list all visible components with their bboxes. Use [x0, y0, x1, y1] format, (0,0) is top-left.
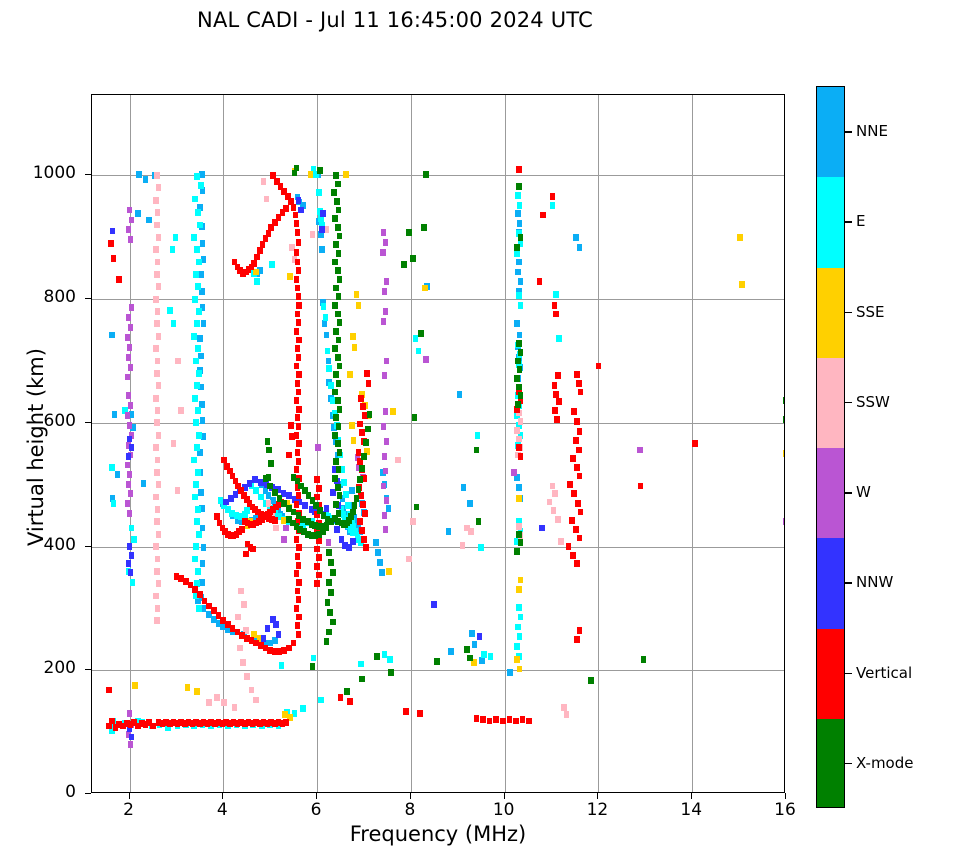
- scatter-point-vertical: [314, 563, 320, 570]
- scatter-point-ssw: [558, 538, 564, 545]
- scatter-point-ssw: [514, 427, 520, 434]
- scatter-point-x-mode: [467, 655, 473, 662]
- scatter-point-vertical: [250, 546, 256, 553]
- scatter-point-e: [196, 370, 202, 377]
- scatter-point-vertical: [537, 278, 543, 285]
- scatter-point-sse: [390, 408, 396, 415]
- scatter-point-nne: [141, 480, 147, 487]
- scatter-point-x-mode: [410, 255, 416, 262]
- scatter-point-ssw: [273, 525, 279, 532]
- scatter-point-vertical: [295, 311, 301, 318]
- scatter-point-x-mode: [336, 293, 342, 300]
- scatter-point-x-mode: [328, 589, 334, 596]
- scatter-point-ssw: [155, 457, 161, 464]
- scatter-point-x-mode: [401, 261, 407, 268]
- x-tick-label: 8: [380, 800, 440, 820]
- scatter-point-e: [300, 705, 306, 712]
- y-tick-label: 200: [16, 658, 76, 678]
- scatter-point-e: [196, 308, 202, 315]
- scatter-point-e: [193, 481, 199, 488]
- scatter-point-x-mode: [359, 465, 365, 472]
- scatter-point-x-mode: [268, 460, 274, 467]
- scatter-point-vertical: [295, 622, 301, 629]
- scatter-point-e: [518, 614, 524, 621]
- x-tick: [504, 793, 505, 799]
- scatter-point-ssw: [156, 580, 162, 587]
- scatter-point-e: [109, 464, 115, 471]
- scatter-point-ssw: [406, 556, 412, 563]
- scatter-point-vertical: [507, 716, 513, 723]
- scatter-point-ssw: [156, 283, 162, 290]
- scatter-point-vertical: [202, 598, 208, 605]
- scatter-point-x-mode: [515, 401, 521, 408]
- scatter-point-ssw: [214, 694, 220, 701]
- scatter-point-e: [326, 365, 332, 372]
- y-axis-label: Virtual height (km): [24, 297, 48, 597]
- scatter-point-ssw: [518, 418, 524, 425]
- scatter-point-vertical: [571, 408, 577, 415]
- scatter-point-ssw: [244, 673, 250, 680]
- scatter-point-sse: [349, 422, 355, 429]
- scatter-point-nnw: [296, 197, 302, 204]
- y-tick: [85, 546, 91, 547]
- scatter-point-ssw: [550, 483, 556, 490]
- scatter-point-vertical: [554, 416, 560, 423]
- scatter-point-sse: [287, 273, 293, 280]
- scatter-point-vertical: [357, 518, 363, 525]
- scatter-point-sse: [343, 171, 349, 178]
- scatter-point-e: [195, 469, 201, 476]
- scatter-point-vertical: [574, 371, 580, 378]
- scatter-point-x-mode: [336, 250, 342, 257]
- scatter-point-nnw: [127, 436, 133, 443]
- scatter-point-x-mode: [356, 486, 362, 493]
- scatter-point-nne: [467, 500, 473, 507]
- scatter-point-vertical: [552, 302, 558, 309]
- scatter-point-e: [517, 633, 523, 640]
- scatter-point-w: [129, 217, 135, 224]
- y-tick-label: 1000: [16, 163, 76, 183]
- scatter-point-x-mode: [277, 495, 283, 502]
- colorbar-label-nnw: NNW: [856, 573, 893, 591]
- scatter-point-e: [192, 494, 198, 501]
- scatter-point-vertical: [347, 698, 353, 705]
- scatter-point-vertical: [296, 337, 302, 344]
- scatter-point-nne: [479, 657, 485, 664]
- scatter-point-ssw: [155, 407, 161, 414]
- scatter-point-w: [511, 469, 517, 476]
- scatter-point-w: [127, 207, 133, 214]
- scatter-point-x-mode: [335, 181, 341, 188]
- scatter-point-e: [279, 662, 285, 669]
- scatter-point-w: [382, 372, 388, 379]
- scatter-point-vertical: [294, 328, 300, 335]
- scatter-point-ssw: [154, 222, 160, 229]
- scatter-point-ssw: [253, 697, 259, 704]
- scatter-point-nne: [515, 210, 521, 217]
- scatter-point-x-mode: [474, 447, 480, 454]
- scatter-point-vertical: [576, 447, 582, 454]
- scatter-point-vertical: [294, 466, 300, 473]
- scatter-point-vertical: [553, 391, 559, 398]
- scatter-point-e: [170, 246, 176, 253]
- scatter-point-x-mode: [418, 330, 424, 337]
- scatter-point-sse: [347, 371, 353, 378]
- scatter-point-x-mode: [317, 167, 323, 174]
- scatter-point-vertical: [296, 423, 302, 430]
- scatter-point-e: [515, 192, 521, 199]
- colorbar-label-ssw: SSW: [856, 393, 890, 411]
- scatter-point-ssw: [241, 601, 247, 608]
- scatter-point-sse: [352, 344, 358, 351]
- scatter-point-sse: [354, 291, 360, 298]
- scatter-point-vertical: [316, 572, 322, 579]
- scatter-point-vertical: [577, 535, 583, 542]
- scatter-point-vertical: [295, 414, 301, 421]
- scatter-point-vertical: [364, 370, 370, 377]
- scatter-point-w: [380, 249, 386, 256]
- scatter-point-nne: [200, 417, 206, 424]
- scatter-point-nne: [324, 332, 330, 339]
- scatter-point-sse: [739, 281, 745, 288]
- scatter-point-ssw: [240, 659, 246, 666]
- scatter-point-w: [383, 239, 389, 246]
- scatter-point-vertical: [295, 553, 301, 560]
- scatter-point-x-mode: [333, 328, 339, 335]
- scatter-point-x-mode: [421, 224, 427, 231]
- scatter-point-vertical: [296, 319, 302, 326]
- scatter-point-e: [516, 604, 522, 611]
- scatter-point-nnw: [223, 499, 229, 506]
- scatter-point-vertical: [500, 718, 506, 725]
- scatter-point-x-mode: [518, 349, 524, 356]
- scatter-point-ssw: [155, 506, 161, 513]
- scatter-point-x-mode: [294, 165, 300, 172]
- scatter-point-e: [196, 432, 202, 439]
- scatter-point-x-mode: [325, 599, 331, 606]
- scatter-point-ssw: [310, 231, 316, 238]
- scatter-point-e: [195, 283, 201, 290]
- scatter-point-x-mode: [783, 416, 785, 423]
- scatter-point-vertical: [294, 570, 300, 577]
- scatter-point-vertical: [338, 694, 344, 701]
- scatter-point-w: [125, 412, 131, 419]
- scatter-point-e: [358, 661, 364, 668]
- scatter-point-x-mode: [332, 475, 338, 482]
- scatter-point-ssw: [155, 358, 161, 365]
- scatter-point-w: [125, 334, 131, 341]
- scatter-point-vertical: [296, 631, 302, 638]
- scatter-point-ssw: [153, 395, 159, 402]
- scatter-point-vertical: [288, 422, 294, 429]
- scatter-point-w: [128, 490, 134, 497]
- scatter-point-x-mode: [361, 453, 367, 460]
- scatter-point-x-mode: [352, 502, 358, 509]
- colorbar-tick: [845, 312, 852, 313]
- scatter-point-w: [128, 741, 134, 748]
- y-tick-label: 0: [16, 782, 76, 802]
- scatter-point-e: [196, 605, 202, 612]
- scatter-point-vertical: [550, 193, 556, 200]
- scatter-point-w: [283, 525, 289, 532]
- scatter-point-e: [311, 655, 317, 662]
- y-tick: [85, 174, 91, 175]
- scatter-point-vertical: [567, 481, 573, 488]
- scatter-point-vertical: [289, 433, 295, 440]
- scatter-point-x-mode: [335, 397, 341, 404]
- x-tick-label: 6: [286, 800, 346, 820]
- scatter-point-vertical: [296, 267, 302, 274]
- scatter-point-x-mode: [326, 629, 332, 636]
- scatter-point-nnw: [302, 502, 308, 509]
- scatter-point-e: [553, 291, 559, 298]
- scatter-point-ssw: [155, 605, 161, 612]
- scatter-point-w: [126, 354, 132, 361]
- scatter-point-vertical: [295, 229, 301, 236]
- colorbar-label-x-mode: X-mode: [856, 754, 913, 772]
- scatter-point-vertical: [552, 407, 558, 414]
- scatter-point-x-mode: [337, 319, 343, 326]
- scatter-point-ssw: [156, 234, 162, 241]
- scatter-point-x-mode: [327, 609, 333, 616]
- scatter-point-ssw: [206, 699, 212, 706]
- scatter-point-w: [382, 288, 388, 295]
- colorbar-segment-x-mode: [817, 719, 844, 808]
- scatter-point-w: [127, 510, 133, 517]
- ionogram-figure: NAL CADI - Jul 11 16:45:00 2024 UTC 2468…: [0, 0, 958, 857]
- scatter-point-x-mode: [326, 579, 332, 586]
- scatter-point-ssw: [410, 518, 416, 525]
- scatter-point-x-mode: [344, 688, 350, 695]
- scatter-point-vertical: [296, 544, 302, 551]
- scatter-point-nne: [109, 332, 115, 339]
- y-tick: [85, 793, 91, 794]
- scatter-point-w: [128, 364, 134, 371]
- scatter-point-w: [384, 358, 390, 365]
- scatter-point-nnw: [252, 476, 258, 483]
- scatter-point-e: [192, 296, 198, 303]
- scatter-point-nnw: [110, 228, 116, 235]
- scatter-point-nne: [446, 528, 452, 535]
- scatter-point-x-mode: [365, 426, 371, 433]
- scatter-point-x-mode: [336, 423, 342, 430]
- scatter-point-nne: [507, 669, 513, 676]
- scatter-point-vertical: [362, 510, 368, 517]
- scatter-point-ssw: [156, 333, 162, 340]
- scatter-point-w: [383, 526, 389, 533]
- scatter-point-nne: [201, 320, 207, 327]
- scatter-point-sse: [194, 688, 200, 695]
- x-tick: [410, 793, 411, 799]
- x-tick: [691, 793, 692, 799]
- scatter-point-vertical: [294, 536, 300, 543]
- scatter-point-vertical: [493, 716, 499, 723]
- x-tick: [316, 793, 317, 799]
- scatter-point-sse: [386, 568, 392, 575]
- scatter-point-w: [381, 483, 387, 490]
- scatter-point-nne: [319, 246, 325, 253]
- colorbar-tick: [845, 673, 852, 674]
- scatter-point-nnw: [126, 453, 132, 460]
- scatter-point-x-mode: [514, 244, 520, 251]
- scatter-point-ssw: [154, 617, 160, 624]
- scatter-point-nne: [573, 234, 579, 241]
- scatter-point-e: [321, 303, 327, 310]
- scatter-point-vertical: [571, 490, 577, 497]
- scatter-point-vertical: [294, 501, 300, 508]
- scatter-point-e: [556, 335, 562, 342]
- scatter-point-w: [381, 229, 387, 236]
- scatter-point-x-mode: [267, 483, 273, 490]
- scatter-point-vertical: [111, 255, 117, 262]
- scatter-point-ssw: [555, 516, 561, 523]
- scatter-point-x-mode: [330, 619, 336, 626]
- scatter-point-vertical: [296, 371, 302, 378]
- colorbar-segment-ssw: [817, 358, 844, 448]
- scatter-point-w: [637, 447, 643, 454]
- scatter-point-vertical: [108, 240, 114, 247]
- scatter-point-e: [194, 320, 200, 327]
- scatter-point-e: [516, 292, 522, 299]
- x-tick: [222, 793, 223, 799]
- colorbar-segment-sse: [817, 268, 844, 358]
- scatter-point-nne: [518, 278, 524, 285]
- scatter-point-ssw: [154, 518, 160, 525]
- scatter-point-x-mode: [423, 171, 429, 178]
- scatter-point-ssw: [153, 543, 159, 550]
- scatter-point-nne: [136, 171, 142, 178]
- scatter-point-w: [127, 471, 133, 478]
- scatter-point-x-mode: [335, 267, 341, 274]
- scatter-point-vertical: [150, 723, 156, 730]
- scatter-point-e: [316, 189, 322, 196]
- scatter-point-x-mode: [330, 569, 336, 576]
- scatter-point-nnw: [129, 734, 135, 741]
- colorbar: [816, 86, 845, 808]
- scatter-point-w: [783, 518, 785, 525]
- scatter-point-e: [515, 624, 521, 631]
- scatter-point-vertical: [526, 718, 532, 725]
- scatter-point-vertical: [272, 517, 278, 524]
- scatter-point-e: [192, 556, 198, 563]
- page-title: NAL CADI - Jul 11 16:45:00 2024 UTC: [0, 8, 790, 32]
- scatter-point-e: [195, 407, 201, 414]
- scatter-point-vertical: [106, 687, 112, 694]
- scatter-point-ssw: [261, 178, 267, 185]
- scatter-point-vertical: [520, 716, 526, 723]
- scatter-point-x-mode: [337, 233, 343, 240]
- scatter-point-ssw: [551, 507, 557, 514]
- scatter-point-w: [381, 423, 387, 430]
- scatter-point-e: [514, 250, 520, 257]
- scatter-point-vertical: [474, 715, 480, 722]
- scatter-point-w: [126, 314, 132, 321]
- scatter-point-vertical: [577, 473, 583, 480]
- scatter-point-vertical: [224, 463, 230, 470]
- scatter-point-nne: [386, 505, 392, 512]
- scatter-point-x-mode: [331, 189, 337, 196]
- scatter-point-ssw: [395, 457, 401, 464]
- scatter-point-ssw: [153, 444, 159, 451]
- scatter-point-ssw: [153, 345, 159, 352]
- scatter-point-vertical: [357, 421, 363, 428]
- scatter-point-vertical: [361, 536, 367, 543]
- scatter-point-w: [126, 226, 132, 233]
- scatter-point-x-mode: [414, 504, 420, 511]
- scatter-point-vertical: [294, 276, 300, 283]
- scatter-point-x-mode: [328, 559, 334, 566]
- scatter-point-vertical: [578, 389, 584, 396]
- scatter-point-ssw: [249, 687, 255, 694]
- scatter-point-nnw: [276, 631, 282, 638]
- scatter-point-vertical: [295, 285, 301, 292]
- scatter-point-e: [514, 643, 520, 650]
- scatter-point-sse: [185, 684, 191, 691]
- scatter-point-w: [128, 402, 134, 409]
- scatter-point-x-mode: [266, 447, 272, 454]
- scatter-point-w: [127, 710, 133, 717]
- scatter-point-vertical: [566, 543, 572, 550]
- scatter-point-vertical: [573, 437, 579, 444]
- scatter-point-ssw: [153, 246, 159, 253]
- scatter-point-ssw: [153, 593, 159, 600]
- scatter-point-vertical: [294, 397, 300, 404]
- scatter-point-vertical: [294, 363, 300, 370]
- scatter-point-x-mode: [783, 397, 785, 404]
- scatter-point-e: [194, 173, 200, 180]
- scatter-point-e: [195, 568, 201, 575]
- scatter-point-nne: [200, 240, 206, 247]
- scatter-point-e: [131, 536, 137, 543]
- scatter-point-vertical: [577, 428, 583, 435]
- scatter-point-w: [125, 374, 131, 381]
- scatter-point-w: [126, 392, 132, 399]
- scatter-point-e: [550, 202, 556, 209]
- scatter-point-sse: [516, 495, 522, 502]
- scatter-point-vertical: [296, 458, 302, 465]
- scatter-point-nnw: [261, 635, 267, 642]
- scatter-point-x-mode: [336, 337, 342, 344]
- scatter-point-nne: [143, 176, 149, 183]
- scatter-point-vertical: [296, 492, 302, 499]
- scatter-point-ssw: [154, 568, 160, 575]
- scatter-point-x-mode: [388, 669, 394, 676]
- scatter-point-sse: [517, 666, 523, 673]
- scatter-point-vertical: [295, 588, 301, 595]
- colorbar-segment-w: [817, 448, 844, 538]
- scatter-point-ssw: [178, 407, 184, 414]
- scatter-point-nne: [146, 217, 152, 224]
- scatter-point-x-mode: [272, 489, 278, 496]
- scatter-point-nnw: [129, 444, 135, 451]
- scatter-point-vertical: [555, 372, 561, 379]
- scatter-point-ssw: [155, 259, 161, 266]
- scatter-point-vertical: [296, 440, 302, 447]
- scatter-point-nnw: [273, 621, 279, 628]
- scatter-point-ssw: [155, 308, 161, 315]
- x-axis-label: Frequency (MHz): [91, 822, 785, 846]
- scatter-point-nne: [112, 411, 118, 418]
- scatter-point-e: [167, 307, 173, 314]
- scatter-point-ssw: [221, 699, 227, 706]
- scatter-point-x-mode: [335, 224, 341, 231]
- scatter-point-vertical: [296, 239, 302, 246]
- scatter-point-nne: [197, 335, 203, 342]
- scatter-point-vertical: [552, 382, 558, 389]
- x-tick: [129, 793, 130, 799]
- scatter-point-x-mode: [350, 509, 356, 516]
- scatter-point-nnw: [129, 552, 135, 559]
